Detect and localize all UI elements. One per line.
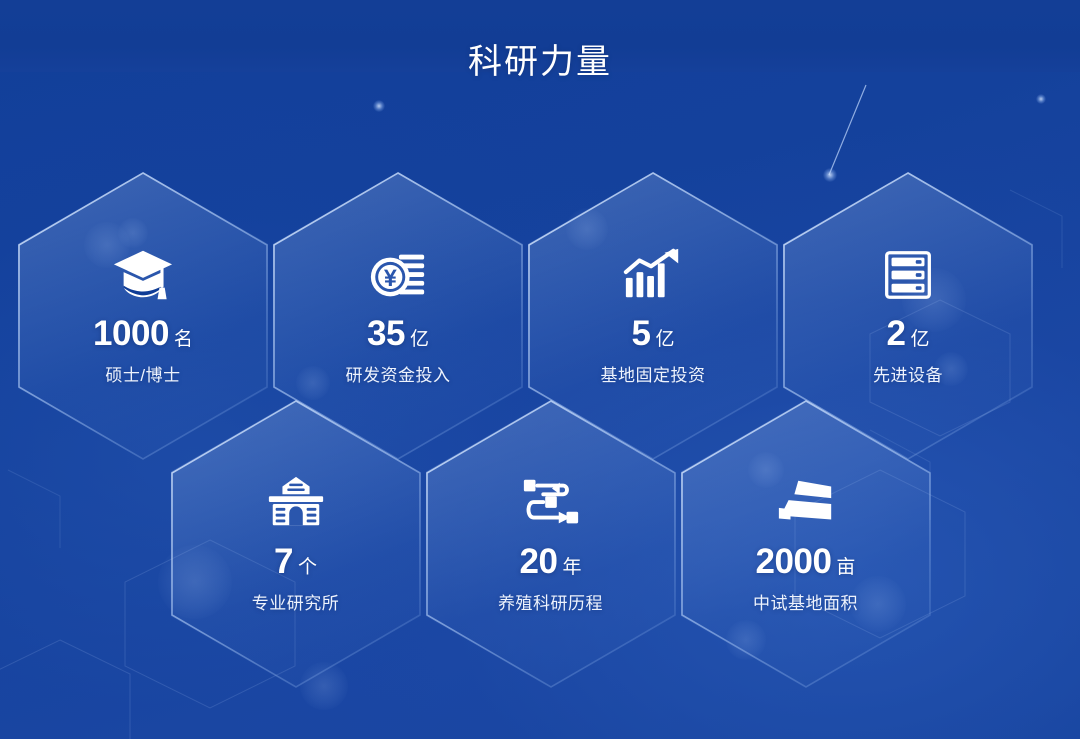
decor-glow-dot bbox=[373, 100, 385, 112]
stat-hexagon[interactable]: 2000亩中试基地面积 bbox=[681, 400, 931, 688]
server-rack-icon bbox=[877, 246, 939, 304]
stat-number: 5 bbox=[632, 316, 651, 351]
stat-number: 2 bbox=[887, 316, 906, 351]
process-flow-icon bbox=[520, 474, 582, 532]
hexagon-content: 2000亩中试基地面积 bbox=[681, 400, 931, 688]
research-strength-infographic: 科研力量 1000名硕士/博士35亿研发资金投入5亿基地固定投资2亿先进设备7个… bbox=[0, 0, 1080, 739]
stat-value: 5亿 bbox=[632, 316, 675, 351]
stat-value: 7个 bbox=[274, 544, 317, 579]
stat-unit: 个 bbox=[298, 558, 317, 577]
decor-diagonal-line bbox=[829, 85, 866, 175]
growth-chart-icon bbox=[622, 246, 684, 304]
stat-label: 专业研究所 bbox=[252, 589, 340, 614]
stat-unit: 亿 bbox=[655, 330, 674, 349]
stat-label: 中试基地面积 bbox=[753, 589, 858, 614]
money-coins-icon bbox=[367, 246, 429, 304]
stat-label: 先进设备 bbox=[873, 361, 943, 386]
stat-unit: 亩 bbox=[836, 558, 855, 577]
stat-label: 养殖科研历程 bbox=[498, 589, 603, 614]
stat-value: 2亿 bbox=[887, 316, 930, 351]
stat-label: 基地固定投资 bbox=[601, 361, 706, 386]
stat-number: 20 bbox=[520, 544, 558, 579]
hexagon-content: 20年养殖科研历程 bbox=[426, 400, 676, 688]
stat-label: 研发资金投入 bbox=[346, 361, 451, 386]
stat-hexagon[interactable]: 7个专业研究所 bbox=[171, 400, 421, 688]
stat-number: 1000 bbox=[93, 316, 169, 351]
institute-building-icon bbox=[265, 474, 327, 532]
stat-unit: 年 bbox=[562, 558, 581, 577]
page-title: 科研力量 bbox=[0, 23, 1080, 95]
stat-number: 2000 bbox=[756, 544, 832, 579]
stat-number: 35 bbox=[367, 316, 405, 351]
stat-value: 2000亩 bbox=[756, 544, 856, 579]
stat-number: 7 bbox=[274, 544, 293, 579]
stat-value: 1000名 bbox=[93, 316, 193, 351]
stat-unit: 名 bbox=[174, 330, 193, 349]
stat-unit: 亿 bbox=[410, 330, 429, 349]
hexagon-content: 7个专业研究所 bbox=[171, 400, 421, 688]
stat-unit: 亿 bbox=[910, 330, 929, 349]
graduation-cap-icon bbox=[112, 246, 174, 304]
stat-value: 35亿 bbox=[367, 316, 429, 351]
stat-hexagon[interactable]: 20年养殖科研历程 bbox=[426, 400, 676, 688]
land-field-icon bbox=[775, 474, 837, 532]
stat-value: 20年 bbox=[520, 544, 582, 579]
decor-glow-dot bbox=[1036, 94, 1046, 104]
stat-label: 硕士/博士 bbox=[105, 361, 180, 386]
